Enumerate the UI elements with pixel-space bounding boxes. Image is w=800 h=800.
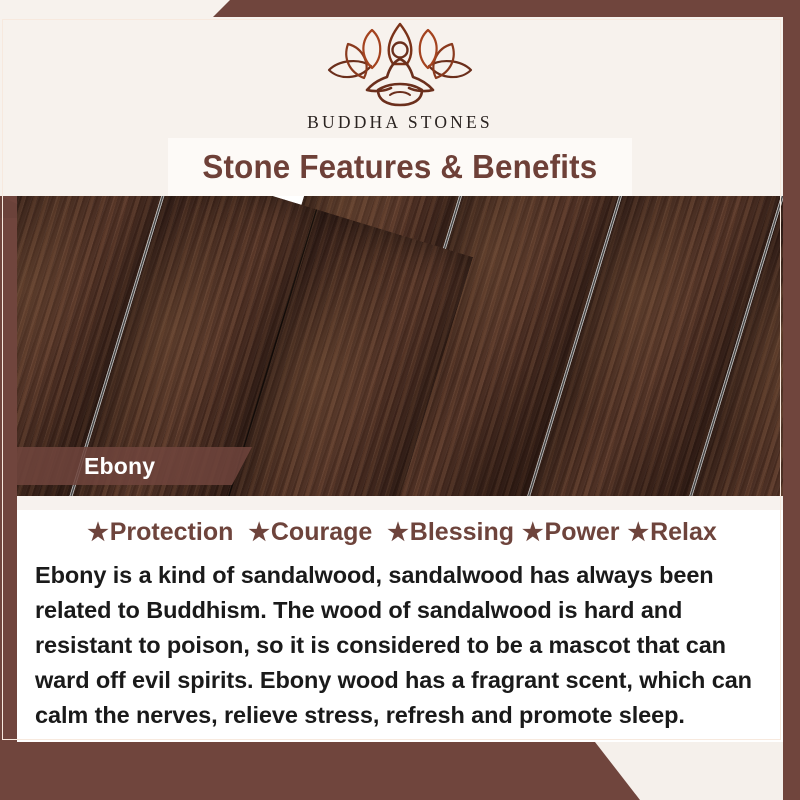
page-title: Stone Features & Benefits — [203, 148, 598, 186]
frame-left-band — [0, 196, 17, 800]
star-icon: ★ — [248, 519, 270, 546]
star-icon: ★ — [522, 519, 544, 546]
benefit-item-relax: Relax — [650, 518, 717, 546]
frame-right-band — [783, 0, 800, 800]
benefit-item-power: Power — [545, 518, 620, 546]
product-label: Ebony — [84, 453, 155, 480]
star-icon: ★ — [387, 519, 409, 546]
product-label-banner: Ebony — [17, 447, 252, 485]
benefits-list: ★Protection★Courage★Blessing★Power★Relax — [17, 518, 783, 547]
benefit-item-courage: Courage — [271, 518, 372, 546]
brand-name: BUDDHA STONES — [0, 112, 800, 133]
frame-bottom-band — [0, 742, 800, 800]
star-icon: ★ — [87, 519, 109, 546]
description-text: Ebony is a kind of sandalwood, sandalwoo… — [35, 558, 765, 733]
content-top-strip — [17, 496, 783, 510]
star-icon: ★ — [628, 519, 650, 546]
infographic-card: BUDDHA STONES Stone Features & Benefits — [0, 0, 800, 800]
brand-logo-block: BUDDHA STONES — [0, 22, 800, 133]
benefit-item-blessing: Blessing — [410, 518, 514, 546]
content-panel: ★Protection★Courage★Blessing★Power★Relax… — [17, 496, 783, 742]
benefit-item-protection: Protection — [110, 518, 234, 546]
title-banner: Stone Features & Benefits — [168, 138, 632, 196]
lotus-meditation-figure-icon — [315, 22, 485, 108]
header-area: BUDDHA STONES Stone Features & Benefits — [0, 0, 800, 196]
